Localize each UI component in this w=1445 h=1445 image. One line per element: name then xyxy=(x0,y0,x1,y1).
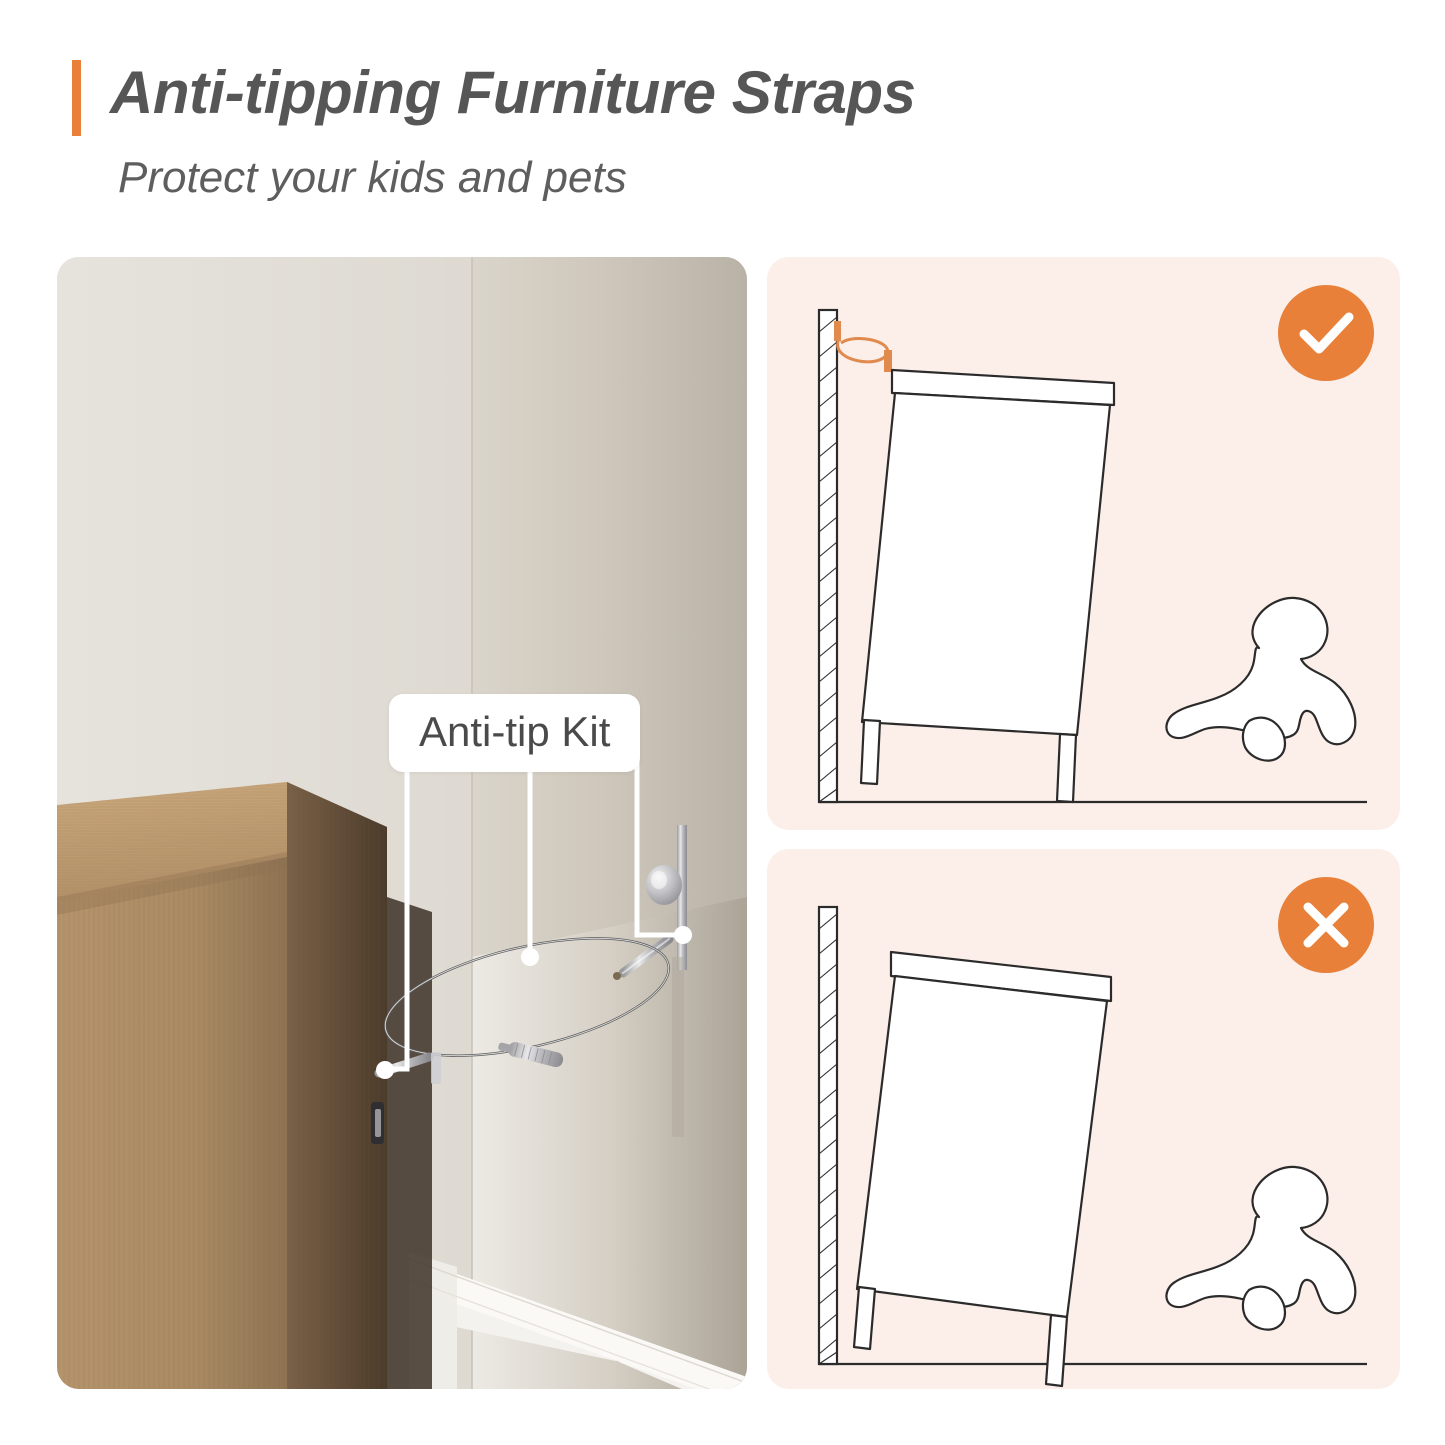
diagram-panel-unsecured xyxy=(767,849,1400,1389)
header: Anti-tipping Furniture Straps Protect yo… xyxy=(0,0,1445,250)
accent-bar xyxy=(72,60,81,136)
wall xyxy=(819,907,837,1364)
room-photo-illustration xyxy=(57,257,747,1389)
anti-tip-kit-callout-label: Anti-tip Kit xyxy=(389,694,640,772)
child-figure xyxy=(1166,1167,1355,1330)
page-title: Anti-tipping Furniture Straps xyxy=(110,58,915,129)
child-figure xyxy=(1166,598,1355,761)
check-badge xyxy=(1278,285,1374,381)
furniture-cabinet xyxy=(854,952,1111,1386)
badge-circle xyxy=(1278,285,1374,381)
wall xyxy=(819,310,837,802)
furniture-cabinet xyxy=(861,370,1114,802)
product-photo-panel: Anti-tip Kit xyxy=(57,257,747,1389)
page-subtitle: Protect your kids and pets xyxy=(118,152,627,204)
cross-badge xyxy=(1278,877,1374,973)
diagram-panel-secured xyxy=(767,257,1400,830)
anti-tip-strap xyxy=(834,321,892,372)
